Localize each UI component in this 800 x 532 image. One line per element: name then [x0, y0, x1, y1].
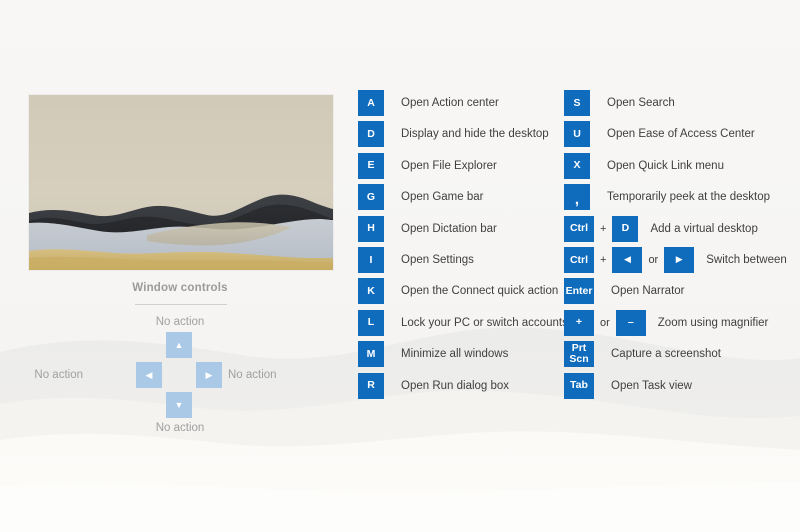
shortcut-description: Open Task view [611, 380, 692, 392]
key-label: D [367, 129, 375, 140]
key-arrow-left[interactable]: ◀ [612, 247, 642, 273]
key-or-separator: or [594, 317, 616, 329]
key-label: M [367, 349, 376, 360]
arrow-right-action-label: No action [228, 369, 277, 381]
key-plus-separator: + [594, 223, 612, 235]
key-label: – [628, 317, 634, 328]
shortcut-description: Switch between [706, 254, 787, 266]
window-controls-title: Window controls [20, 282, 340, 294]
shortcut-row: TabOpen Task view [564, 373, 692, 399]
shortcut-row: EnterOpen Narrator [564, 278, 685, 304]
shortcut-description: Open Search [607, 97, 675, 109]
arrow-right-icon: ▶ [206, 371, 213, 380]
shortcut-description: Lock your PC or switch accounts [401, 317, 568, 329]
key-label: A [367, 98, 375, 109]
shortcut-description: Temporarily peek at the desktop [607, 191, 770, 203]
shortcut-description: Open Run dialog box [401, 380, 509, 392]
key-label: + [576, 317, 582, 328]
shortcut-description: Zoom using magnifier [658, 317, 769, 329]
key-i[interactable]: I [358, 247, 384, 273]
key-tab[interactable]: Tab [564, 373, 594, 399]
key-l[interactable]: L [358, 310, 384, 336]
arrow-up-icon: ▲ [175, 341, 184, 350]
window-controls-divider [135, 304, 227, 305]
shortcut-row: LLock your PC or switch accounts [358, 310, 568, 336]
arrow-right-icon: ▶ [676, 255, 683, 264]
key-label: Ctrl [570, 223, 588, 234]
shortcut-row: XOpen Quick Link menu [564, 153, 724, 179]
key-label: G [367, 192, 375, 203]
shortcut-description: Open Ease of Access Center [607, 128, 755, 140]
shortcut-description: Add a virtual desktop [650, 223, 757, 235]
key-arrow-right[interactable]: ▶ [664, 247, 694, 273]
key-label: L [368, 317, 374, 328]
key-plus-separator: + [594, 254, 612, 266]
key-a[interactable]: A [358, 90, 384, 116]
key-h[interactable]: H [358, 216, 384, 242]
key-g[interactable]: G [358, 184, 384, 210]
key-x[interactable]: X [564, 153, 590, 179]
key-label: X [573, 160, 580, 171]
shortcut-description: Open the Connect quick action [401, 285, 558, 297]
key-e[interactable]: E [358, 153, 384, 179]
key-r[interactable]: R [358, 373, 384, 399]
key-label: U [573, 129, 581, 140]
arrow-left-key[interactable]: ◀ [136, 362, 162, 388]
key-label: I [370, 255, 373, 266]
key-enter[interactable]: Enter [564, 278, 594, 304]
key-label: S [573, 98, 580, 109]
key-s[interactable]: S [564, 90, 590, 116]
arrow-left-action-label: No action [34, 369, 83, 381]
key-comma[interactable]: , [564, 184, 590, 210]
key-print-screen[interactable]: PrtScn [564, 341, 594, 367]
key-label: Ctrl [570, 255, 588, 266]
shortcut-row: HOpen Dictation bar [358, 216, 497, 242]
key-label: E [367, 160, 374, 171]
shortcut-row: UOpen Ease of Access Center [564, 121, 755, 147]
key-ctrl[interactable]: Ctrl [564, 216, 594, 242]
shortcut-row: AOpen Action center [358, 90, 499, 116]
key-ctrl[interactable]: Ctrl [564, 247, 594, 273]
arrow-up-key[interactable]: ▲ [166, 332, 192, 358]
wallpaper-thumbnail [29, 95, 333, 270]
shortcut-description: Open File Explorer [401, 160, 497, 172]
key-plus[interactable]: + [564, 310, 594, 336]
shortcut-description: Open Action center [401, 97, 499, 109]
shortcut-description: Open Game bar [401, 191, 483, 203]
shortcut-row: DDisplay and hide the desktop [358, 121, 549, 147]
shortcut-description: Open Quick Link menu [607, 160, 724, 172]
key-label: H [367, 223, 375, 234]
shortcut-description: Open Narrator [611, 285, 685, 297]
shortcut-row: SOpen Search [564, 90, 675, 116]
key-minus[interactable]: – [616, 310, 646, 336]
shortcut-row: EOpen File Explorer [358, 153, 497, 179]
arrow-up-action-label: No action [0, 316, 360, 328]
shortcut-row: Ctrl+DAdd a virtual desktop [564, 216, 758, 242]
arrow-left-icon: ◀ [624, 255, 631, 264]
key-d[interactable]: D [358, 121, 384, 147]
shortcut-description: Display and hide the desktop [401, 128, 549, 140]
shortcut-row: Ctrl+◀or▶Switch between [564, 247, 787, 273]
shortcut-description: Capture a screenshot [611, 348, 721, 360]
shortcut-row: KOpen the Connect quick action [358, 278, 558, 304]
shortcut-row: +or–Zoom using magnifier [564, 310, 768, 336]
arrow-right-key[interactable]: ▶ [196, 362, 222, 388]
arrow-left-icon: ◀ [146, 371, 153, 380]
shortcut-row: GOpen Game bar [358, 184, 483, 210]
key-k[interactable]: K [358, 278, 384, 304]
shortcut-row: ROpen Run dialog box [358, 373, 509, 399]
key-label: K [367, 286, 375, 297]
arrow-down-icon: ▼ [175, 401, 184, 410]
shortcut-row: IOpen Settings [358, 247, 474, 273]
shortcut-row: MMinimize all windows [358, 341, 508, 367]
key-u[interactable]: U [564, 121, 590, 147]
key-label: R [367, 380, 375, 391]
key-label: D [622, 223, 630, 234]
key-label: Scn [569, 354, 588, 365]
shortcut-row: ,Temporarily peek at the desktop [564, 184, 770, 210]
arrow-down-action-label: No action [0, 422, 360, 434]
shortcut-description: Minimize all windows [401, 348, 508, 360]
shortcut-row: PrtScnCapture a screenshot [564, 341, 721, 367]
key-label: Enter [566, 286, 593, 297]
key-m[interactable]: M [358, 341, 384, 367]
key-label: Tab [570, 380, 588, 391]
arrow-down-key[interactable]: ▼ [166, 392, 192, 418]
key-or-separator: or [642, 254, 664, 266]
key-d[interactable]: D [612, 216, 638, 242]
shortcut-description: Open Dictation bar [401, 223, 497, 235]
shortcut-description: Open Settings [401, 254, 474, 266]
